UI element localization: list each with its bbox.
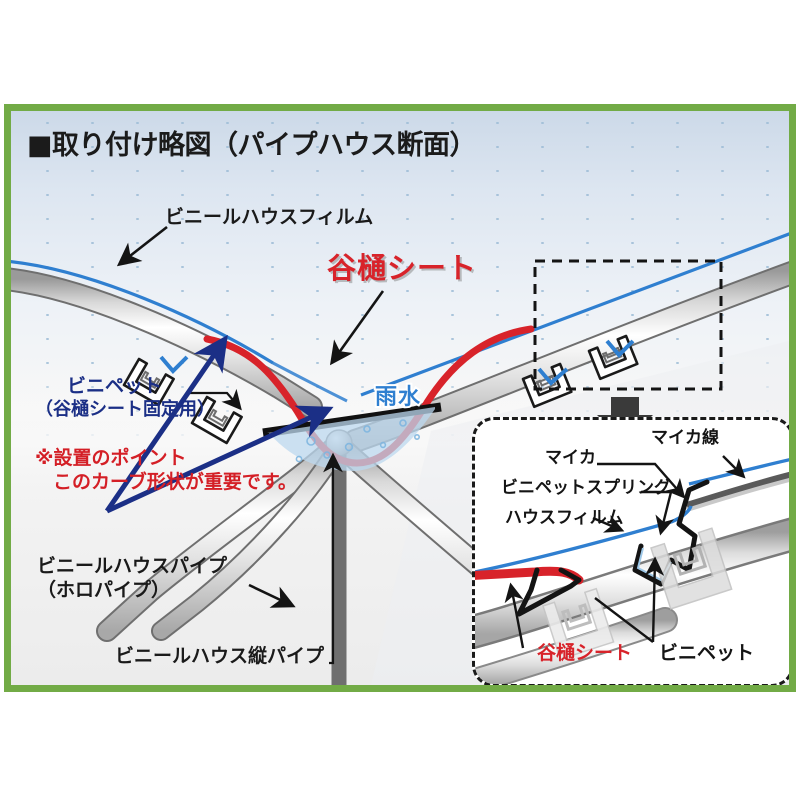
label-rain-water: 雨水 xyxy=(375,385,421,411)
inset-label-binipet: ビニペット xyxy=(659,642,754,664)
mica-bar xyxy=(687,474,791,506)
inset-label-house-film: ハウスフィルム xyxy=(505,508,623,528)
label-install-note-2: このカーブ形状が重要です。 xyxy=(53,471,297,493)
leader-arrow-vertical-pipe xyxy=(329,457,333,663)
lower-left-pipe xyxy=(107,441,341,631)
leader-arrow-house-pipe xyxy=(249,585,291,605)
label-binipet-sub: （谷樋シート固定用） xyxy=(35,399,215,420)
label-vertical-pipe: ビニールハウス縦パイプ xyxy=(115,645,324,667)
label-binipet: ビニペット xyxy=(67,375,162,397)
detail-inset-box: マイカ マイカ線 ビニペットスプリング ハウスフィルム 谷樋シート ビニペット xyxy=(472,417,794,687)
label-house-pipe-2: （ホロパイプ） xyxy=(37,579,170,601)
inset-label-valley-sheet: 谷樋シート xyxy=(537,642,632,664)
label-house-film: ビニールハウスフィルム xyxy=(165,206,373,228)
green-framed-panel: ■取り付け略図（パイプハウス断面） xyxy=(4,104,796,692)
inset-label-binipet-spring: ビニペットスプリング xyxy=(501,478,671,498)
label-install-note-1: ※設置のポイント xyxy=(35,447,186,469)
label-house-pipe-1: ビニールハウスパイプ xyxy=(37,555,227,577)
leader-arrow-house-film xyxy=(121,227,167,263)
inset-label-mica-line: マイカ線 xyxy=(651,428,719,448)
leader-arrow-valley-sheet xyxy=(333,291,383,361)
diagram-canvas: ■取り付け略図（パイプハウス断面） xyxy=(0,0,800,800)
inset-label-mica: マイカ xyxy=(545,448,596,468)
label-valley-sheet-title: 谷樋シート xyxy=(327,251,477,285)
